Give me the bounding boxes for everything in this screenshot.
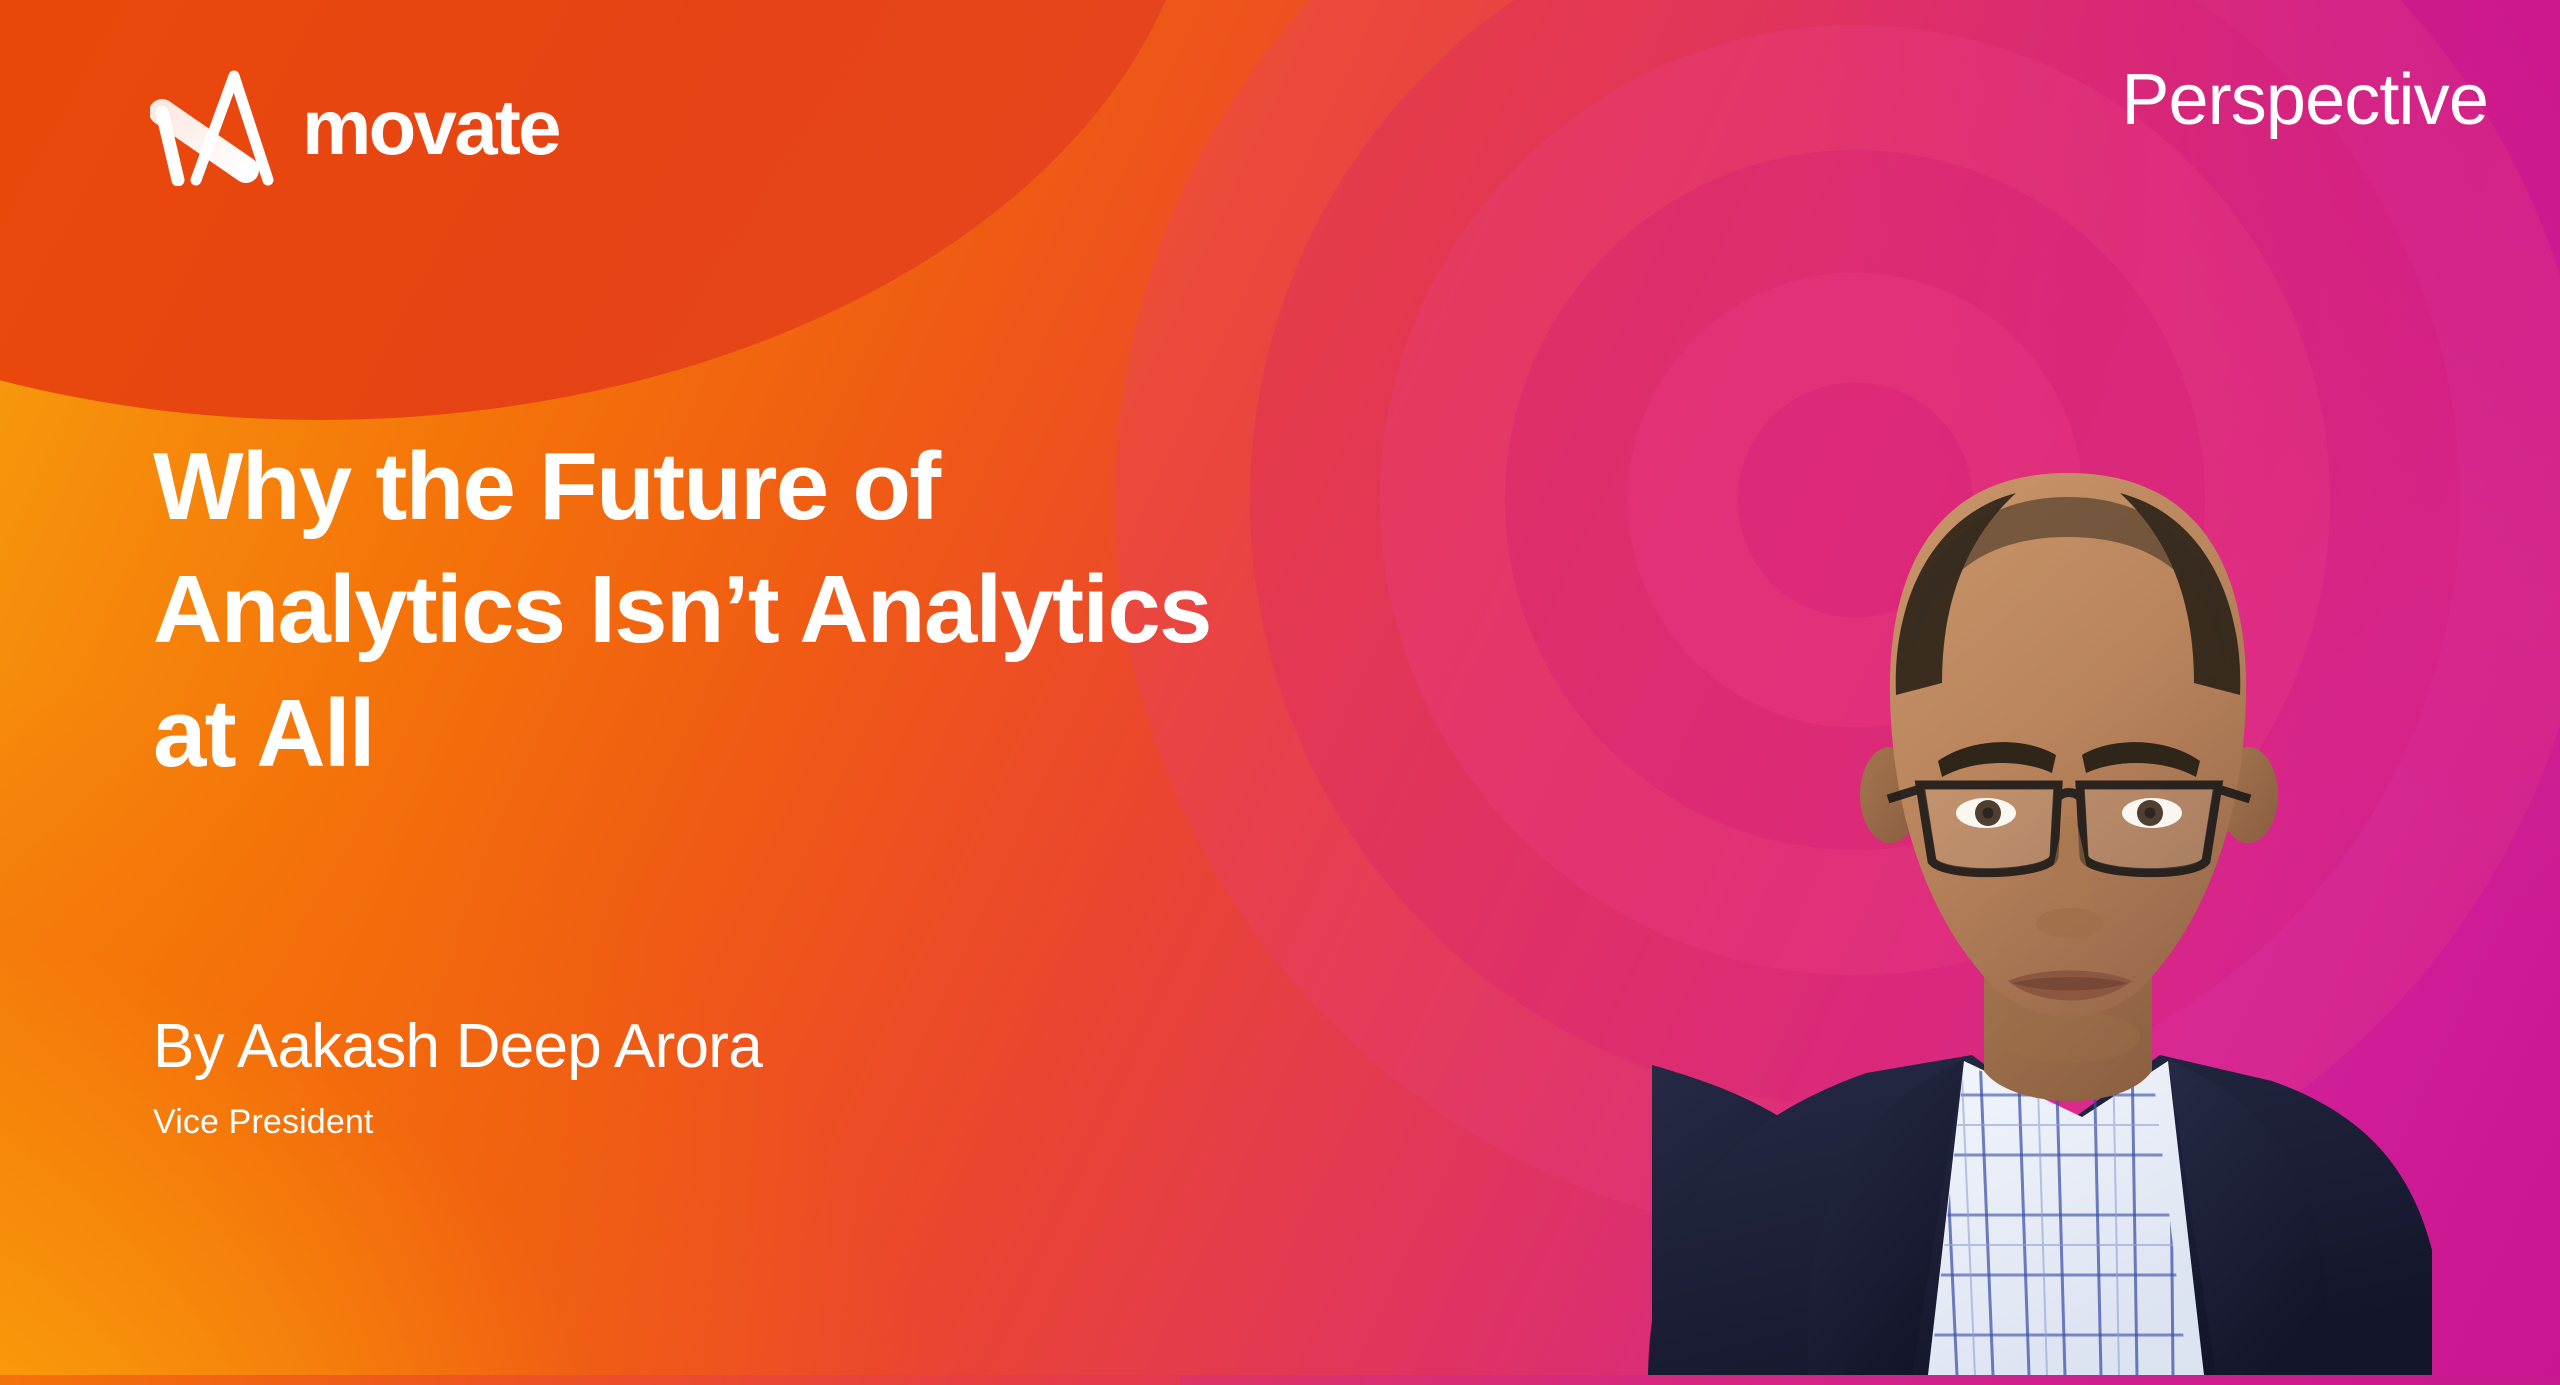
avatar xyxy=(1612,365,2432,1375)
movate-logomark-icon xyxy=(150,62,278,186)
title-line-2: Analytics Isn’t Analytics xyxy=(153,548,1433,671)
perspective-banner: movate Perspective Why the Future of Ana… xyxy=(0,0,2560,1385)
title-line-1: Why the Future of xyxy=(153,425,1433,548)
author-block: By Aakash Deep Arora Vice President xyxy=(153,1012,762,1143)
author-byline: By Aakash Deep Arora xyxy=(153,1012,762,1081)
brand-logo[interactable]: movate xyxy=(150,62,559,186)
title-line-3: at All xyxy=(153,672,1433,795)
brand-wordmark: movate xyxy=(302,88,559,166)
footer-accent-bar-pink xyxy=(1180,1375,2560,1385)
page-title: Why the Future of Analytics Isn’t Analyt… xyxy=(153,425,1433,795)
perspective-badge: Perspective xyxy=(2121,62,2488,140)
author-title: Vice President xyxy=(153,1103,762,1142)
